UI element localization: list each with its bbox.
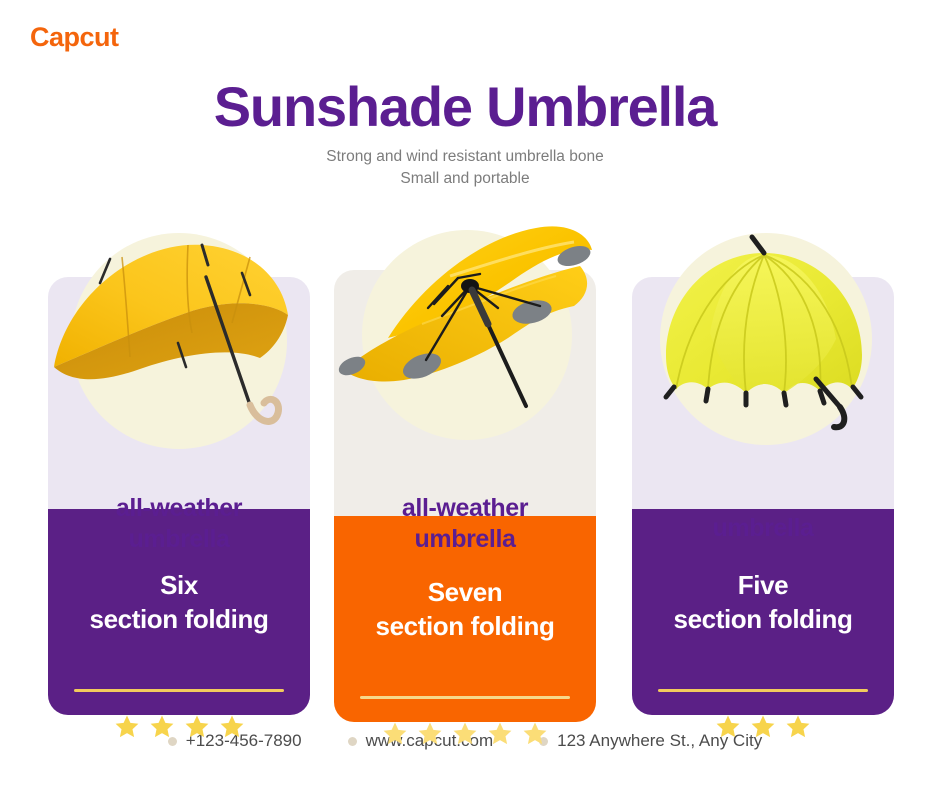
card-label-line-1: all-weather [48, 493, 310, 524]
star-icon [417, 721, 443, 747]
card-product-label: all-weather umbrella [48, 493, 310, 556]
card-product-label: all-weather umbrella [334, 493, 596, 556]
subtitle-line-1: Strong and wind resistant umbrella bone [0, 146, 930, 168]
card-label-line-1: umbrella [632, 513, 894, 544]
card-heading-line-1: Five [632, 569, 894, 603]
subtitle-line-2: Small and portable [0, 168, 930, 190]
brand-logo: Capcut [30, 22, 119, 53]
star-icon [522, 721, 548, 747]
poster-canvas: Capcut Sunshade Umbrella Strong and wind… [0, 0, 930, 788]
card-feature-heading: Five section folding [632, 569, 894, 637]
star-icon [452, 721, 478, 747]
card-feature-heading: Seven section folding [334, 576, 596, 644]
star-icon [382, 721, 408, 747]
card-label-line-1: all-weather [334, 493, 596, 524]
card-heading-line-2: section folding [334, 610, 596, 644]
rating-stars [632, 714, 894, 740]
card-label-line-2: umbrella [334, 524, 596, 555]
page-title: Sunshade Umbrella [0, 76, 930, 138]
product-card[interactable]: all-weather umbrella Seven section foldi… [334, 270, 596, 722]
star-icon [750, 714, 776, 740]
card-divider [658, 689, 868, 692]
card-heading-line-1: Seven [334, 576, 596, 610]
product-image-backdrop [71, 233, 287, 449]
star-icon [149, 714, 175, 740]
product-card[interactable]: all-weather umbrella Six section folding [48, 277, 310, 715]
page-subtitle: Strong and wind resistant umbrella bone … [0, 146, 930, 191]
card-divider [74, 689, 284, 692]
poster-header: Sunshade Umbrella Strong and wind resist… [0, 76, 930, 191]
star-icon [715, 714, 741, 740]
card-heading-line-1: Six [48, 569, 310, 603]
card-feature-heading: Six section folding [48, 569, 310, 637]
star-icon [219, 714, 245, 740]
product-image-backdrop [660, 233, 872, 445]
star-icon [487, 721, 513, 747]
product-image-backdrop [362, 230, 572, 440]
star-icon [184, 714, 210, 740]
card-product-label: umbrella [632, 513, 894, 544]
card-divider [360, 696, 570, 699]
star-icon [114, 714, 140, 740]
rating-stars [334, 721, 596, 747]
card-heading-line-2: section folding [48, 603, 310, 637]
product-card-list: all-weather umbrella Six section folding [0, 218, 930, 718]
rating-stars [48, 714, 310, 740]
star-icon [785, 714, 811, 740]
product-card[interactable]: umbrella Five section folding [632, 277, 894, 715]
card-heading-line-2: section folding [632, 603, 894, 637]
card-label-line-2: umbrella [48, 524, 310, 555]
